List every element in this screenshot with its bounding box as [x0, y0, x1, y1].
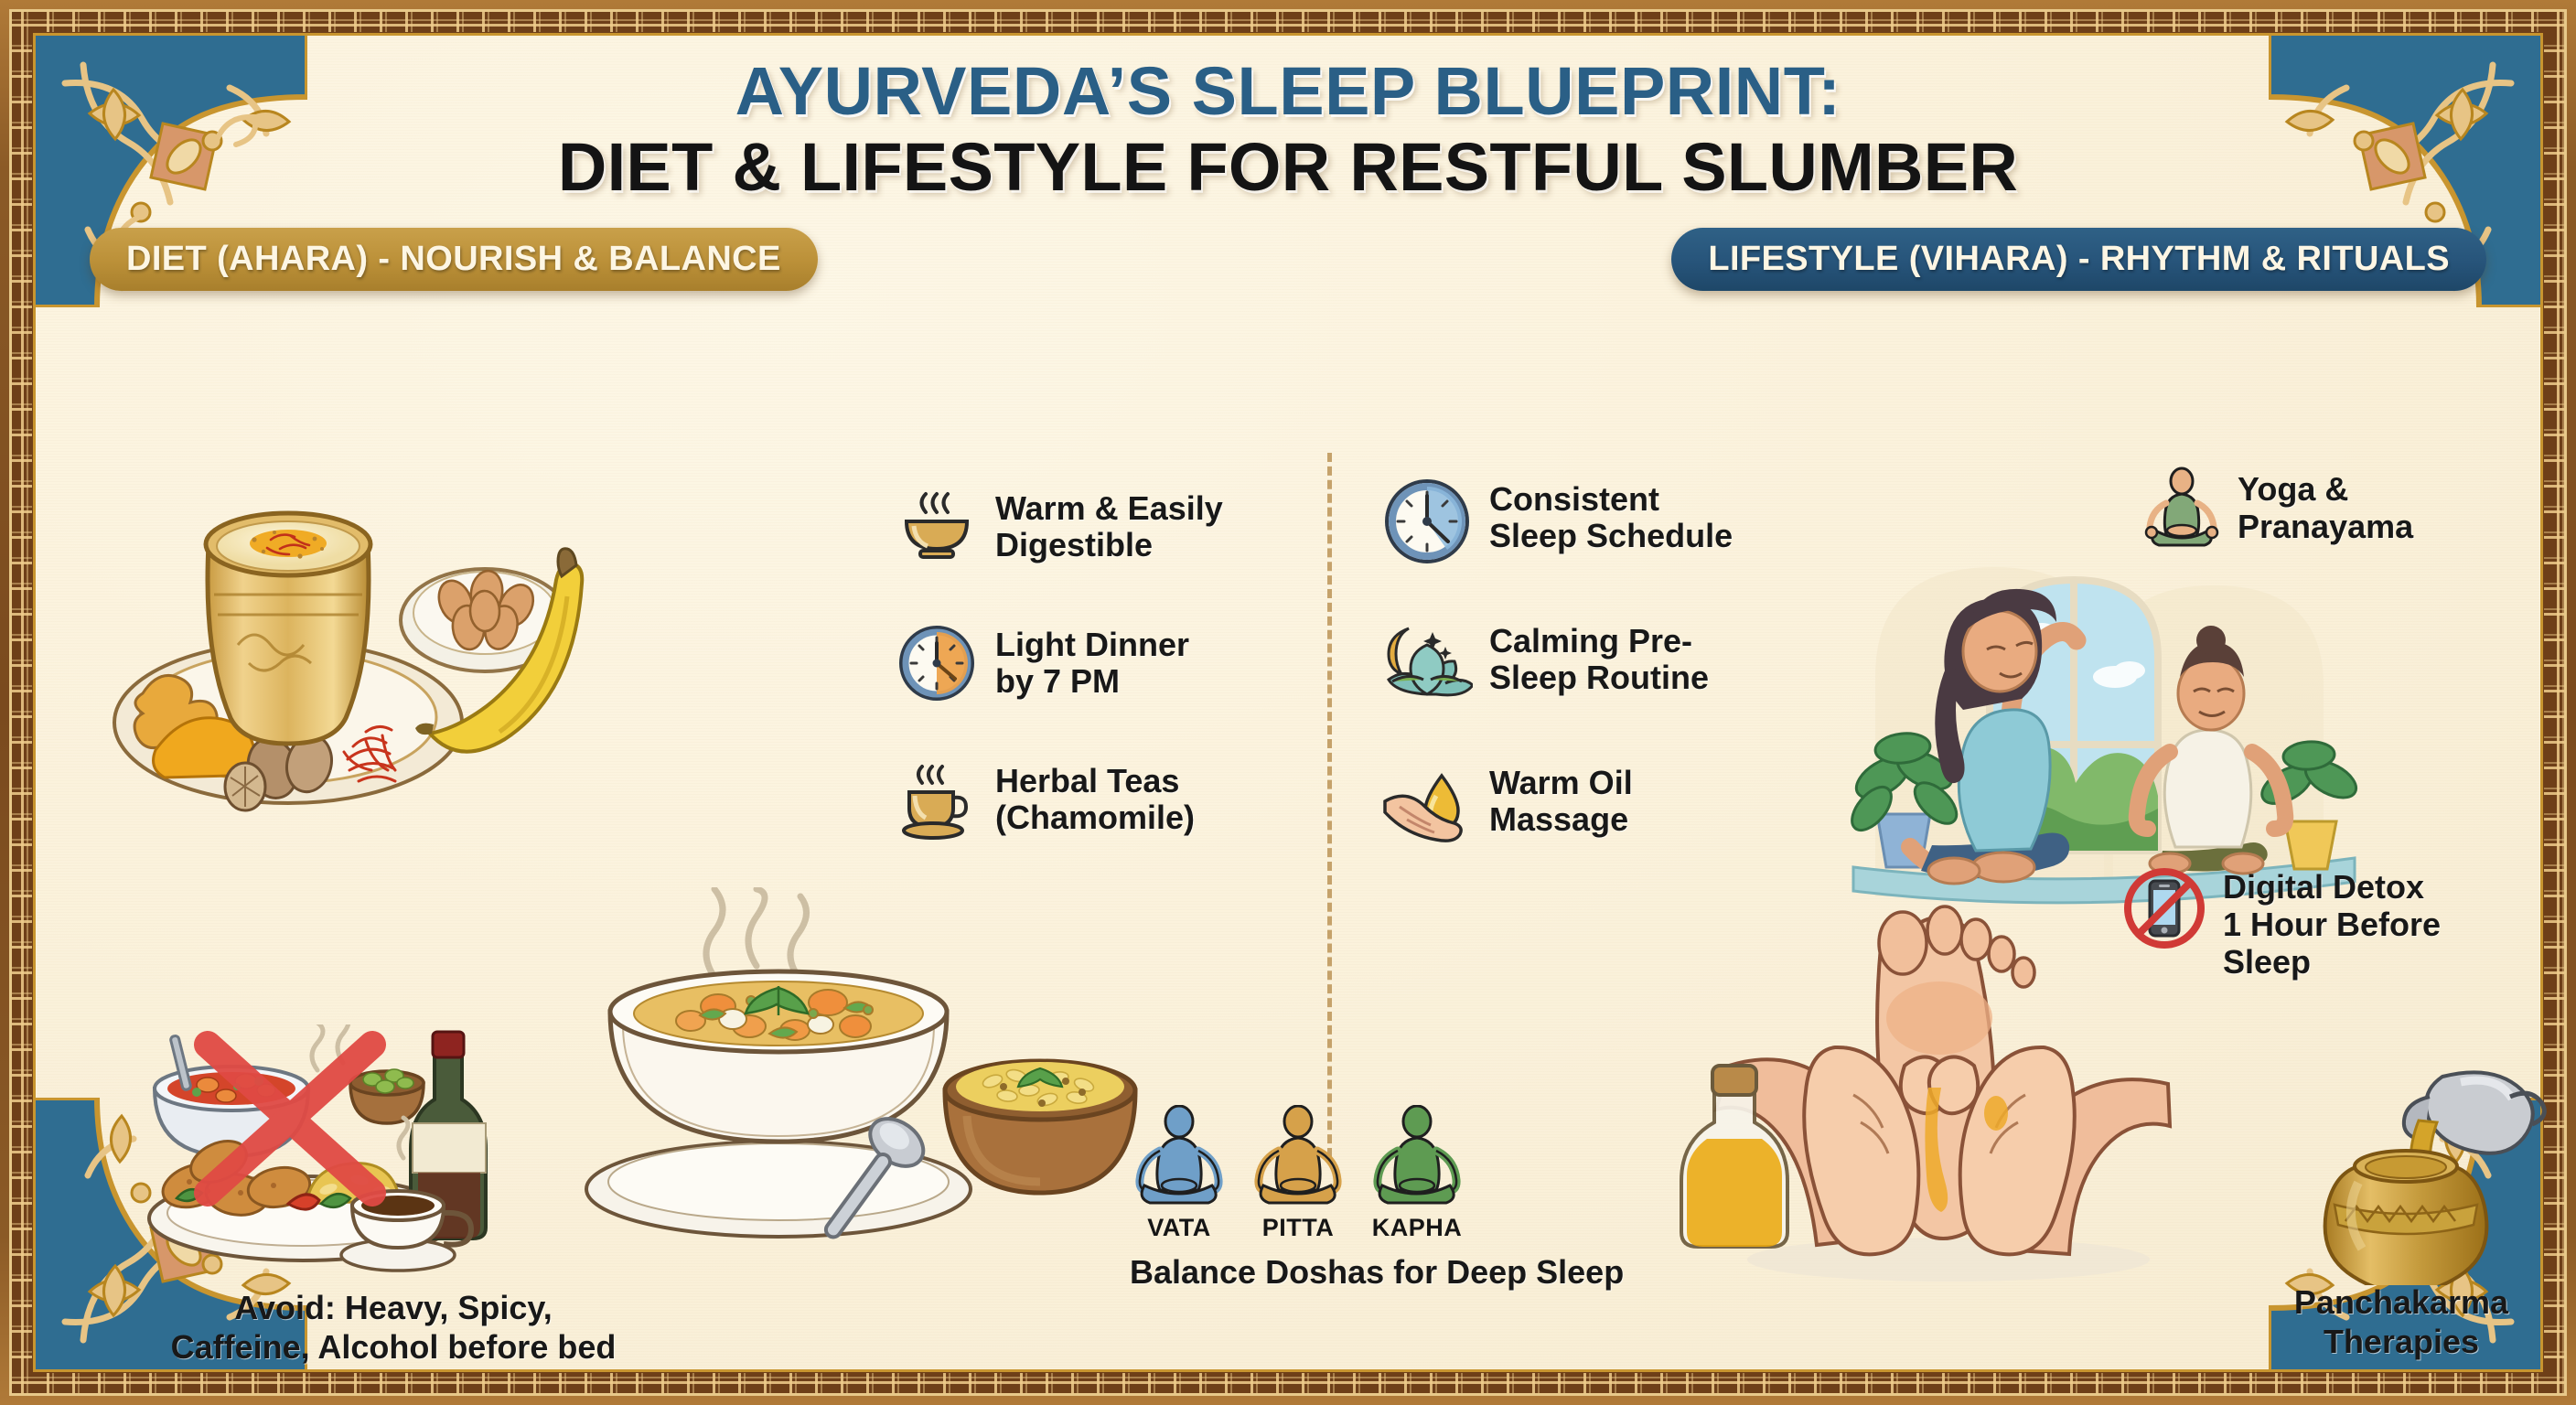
section-divider — [1327, 453, 1332, 1157]
clock-7pm-icon — [895, 621, 979, 710]
dosha-name-pitta: PITTA — [1249, 1214, 1347, 1242]
avoid-caption-line1: Avoid: Heavy, Spicy, — [234, 1289, 552, 1326]
line1: Calming Pre- — [1489, 622, 1692, 660]
diet-bullet-light-dinner-text: Light Dinner by 7 PM — [995, 621, 1189, 701]
title-block: AYURVEDA’S SLEEP BLUEPRINT: DIET & LIFES… — [37, 37, 2539, 204]
line2: by 7 PM — [995, 662, 1120, 700]
lifestyle-item-yoga-text: Yoga & Pranayama — [2238, 467, 2413, 545]
lifestyle-bullet-oil-massage-text: Warm Oil Massage — [1489, 759, 1633, 839]
lifestyle-bullet-list: Consistent Sleep Schedule — [1381, 476, 1733, 855]
moon-lotus-icon — [1381, 617, 1473, 713]
dosha-caption: Balance Doshas for Deep Sleep — [1130, 1253, 1624, 1292]
line2: Sleep Schedule — [1489, 517, 1733, 554]
avoid-foods-caption: Avoid: Heavy, Spicy, Caffeine, Alcohol b… — [101, 1288, 686, 1367]
foot-massage-illustration — [1674, 901, 2186, 1285]
line3: Sleep — [2223, 943, 2311, 981]
panchakarma-line2: Therapies — [2324, 1323, 2479, 1360]
dosha-name-kapha: KAPHA — [1368, 1214, 1466, 1242]
banner-diet: DIET (AHARA) - NOURISH & BALANCE — [90, 228, 818, 291]
lifestyle-bullet-presleep-routine: Calming Pre- Sleep Routine — [1381, 617, 1733, 713]
banner-lifestyle: LIFESTYLE (VIHARA) - RHYTHM & RITUALS — [1671, 228, 2486, 291]
lifestyle-bullet-oil-massage: Warm Oil Massage — [1381, 759, 1733, 855]
line1: Digital Detox — [2223, 868, 2424, 906]
line1: Warm & Easily — [995, 489, 1223, 527]
no-phone-icon — [2120, 864, 2208, 957]
golden-milk-illustration — [91, 448, 604, 842]
diet-bullet-herbal-teas: Herbal Teas (Chamomile) — [895, 757, 1223, 846]
poster-root: AYURVEDA’S SLEEP BLUEPRINT: DIET & LIFES… — [0, 0, 2576, 1405]
dosha-figure-vata — [1130, 1105, 1229, 1212]
lifestyle-item-yoga: Yoga & Pranayama — [2141, 467, 2413, 553]
diet-bullet-light-dinner: Light Dinner by 7 PM — [895, 621, 1223, 710]
lifestyle-item-digital-detox-text: Digital Detox 1 Hour Before Sleep — [2223, 864, 2441, 981]
soup-and-rice-illustration — [553, 887, 1139, 1253]
dosha-name-vata: VATA — [1130, 1214, 1229, 1242]
dosha-figures — [1130, 1105, 1624, 1212]
line2: Pranayama — [2238, 508, 2413, 545]
meditating-person-icon — [2141, 467, 2223, 553]
tea-cup-icon — [895, 757, 979, 846]
yoga-room-illustration — [1830, 549, 2378, 915]
dosha-figure-kapha — [1368, 1105, 1466, 1212]
line2: 1 Hour Before — [2223, 906, 2441, 943]
oil-drop-hand-icon — [1381, 759, 1473, 855]
line2: Massage — [1489, 800, 1628, 838]
lifestyle-bullet-presleep-routine-text: Calming Pre- Sleep Routine — [1489, 617, 1709, 697]
steaming-bowl-icon — [895, 485, 979, 574]
wall-clock-icon — [1381, 476, 1473, 572]
line1: Consistent — [1489, 480, 1659, 518]
page-title-line1: AYURVEDA’S SLEEP BLUEPRINT: — [37, 57, 2539, 125]
dosha-group: VATA PITTA KAPHA Balance Doshas for Deep… — [1130, 1105, 1624, 1292]
line2: Digestible — [995, 526, 1153, 563]
lifestyle-bullet-sleep-schedule: Consistent Sleep Schedule — [1381, 476, 1733, 572]
page-title-line2: DIET & LIFESTYLE FOR RESTFUL SLUMBER — [37, 131, 2539, 204]
line2: Sleep Routine — [1489, 659, 1709, 696]
poster-content: AYURVEDA’S SLEEP BLUEPRINT: DIET & LIFES… — [37, 37, 2539, 1368]
avoid-foods-illustration — [123, 1024, 535, 1290]
section-banners: DIET (AHARA) - NOURISH & BALANCE LIFESTY… — [37, 204, 2539, 291]
line2: (Chamomile) — [995, 799, 1195, 836]
line1: Yoga & — [2238, 470, 2348, 508]
lifestyle-item-digital-detox: Digital Detox 1 Hour Before Sleep — [2120, 864, 2441, 981]
diet-bullet-warm-digestible-text: Warm & Easily Digestible — [995, 485, 1223, 564]
diet-bullet-herbal-teas-text: Herbal Teas (Chamomile) — [995, 757, 1195, 837]
lifestyle-bullet-sleep-schedule-text: Consistent Sleep Schedule — [1489, 476, 1733, 555]
diet-bullet-warm-digestible: Warm & Easily Digestible — [895, 485, 1223, 574]
dosha-names-row: VATA PITTA KAPHA — [1130, 1214, 1624, 1242]
diet-bullet-list: Warm & Easily Digestible — [895, 485, 1223, 846]
dosha-figure-pitta — [1249, 1105, 1347, 1212]
avoid-caption-line2: Caffeine, Alcohol before bed — [171, 1328, 617, 1366]
panchakarma-pot-illustration — [2250, 1066, 2552, 1285]
panchakarma-caption: Panchakarma Therapies — [2250, 1282, 2552, 1361]
line1: Herbal Teas — [995, 762, 1179, 799]
line1: Warm Oil — [1489, 764, 1633, 801]
line1: Light Dinner — [995, 626, 1189, 663]
panchakarma-line1: Panchakarma — [2294, 1283, 2508, 1321]
